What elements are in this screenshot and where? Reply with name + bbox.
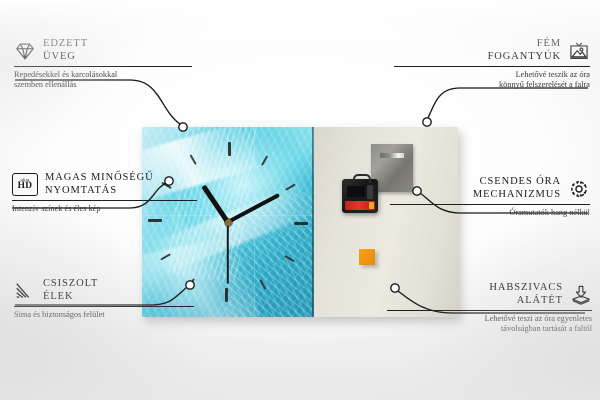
feature-title-line1: HABSZIVACS bbox=[489, 282, 563, 295]
feature-subtitle-line1: Óramutatók hang nélkül bbox=[390, 208, 590, 218]
hanger-slot bbox=[380, 153, 404, 158]
feature-subtitle-line2: könnyű felszerelését a falra bbox=[394, 80, 590, 90]
infographic-canvas: EDZETT ÜVEG Repedésekkel és karcolásokka… bbox=[0, 0, 600, 400]
feature-tempered-glass: EDZETT ÜVEG Repedésekkel és karcolásokka… bbox=[14, 38, 192, 90]
divider bbox=[394, 66, 590, 67]
feature-title-line2: FOGANTYÚK bbox=[488, 51, 561, 64]
feature-foam-pad: HABSZIVACS ALÁTÉT Lehetővé teszi az óra … bbox=[387, 282, 592, 334]
diamond-icon bbox=[14, 40, 36, 62]
clock-second-hand bbox=[227, 222, 229, 284]
feature-title-line2: ÉLEK bbox=[43, 291, 98, 304]
feature-metal-handles: FÉM FOGANTYÚK Lehetővé teszik az óra kön… bbox=[394, 38, 590, 90]
feature-title-line1: CSISZOLT bbox=[43, 278, 98, 291]
foam-pad bbox=[359, 249, 375, 265]
feature-quiet-mechanism: CSENDES ÓRA MECHANIZMUS Óramutatók hang … bbox=[390, 176, 590, 218]
mechanism-panel bbox=[347, 186, 365, 197]
glass-reflection-line bbox=[254, 127, 255, 317]
divider bbox=[14, 306, 194, 307]
feature-title-line2: ÜVEG bbox=[43, 51, 88, 64]
picture-frame-hanger-icon bbox=[568, 40, 590, 62]
feature-high-quality-print: ultra HD MAGAS MINŐSÉGŰ NYOMTATÁS Intenz… bbox=[12, 172, 197, 214]
feature-polished-edges: CSISZOLT ÉLEK Sima és biztonságos felüle… bbox=[14, 278, 194, 320]
anchor-dot-handles bbox=[423, 118, 431, 126]
aa-battery bbox=[345, 201, 375, 210]
mechanism-handle bbox=[353, 174, 371, 183]
ultra-hd-large: HD bbox=[18, 182, 33, 191]
gear-icon bbox=[568, 178, 590, 200]
clock-hour-hand bbox=[201, 184, 230, 223]
feature-subtitle-line1: Sima és biztonságos felület bbox=[14, 310, 194, 320]
feature-title-line1: EDZETT bbox=[43, 38, 88, 51]
divider bbox=[12, 200, 197, 201]
feature-title-line2: ALÁTÉT bbox=[489, 295, 563, 308]
press-pad-icon bbox=[570, 284, 592, 306]
feature-title-line2: NYOMTATÁS bbox=[45, 185, 154, 198]
feature-subtitle-line2: szemben ellenállás bbox=[14, 80, 192, 90]
feature-subtitle-line1: Lehetővé teszik az óra bbox=[394, 70, 590, 80]
feature-title-line1: FÉM bbox=[488, 38, 561, 51]
divider bbox=[390, 204, 590, 205]
mechanism-tab bbox=[367, 185, 373, 199]
feature-title-line1: CSENDES ÓRA bbox=[473, 176, 561, 189]
clock-hand-hub bbox=[225, 219, 232, 226]
divider bbox=[387, 310, 592, 311]
feature-title-line1: MAGAS MINŐSÉGŰ bbox=[45, 172, 154, 185]
feature-subtitle-line1: Lehetővé teszi az óra egyenletes bbox=[387, 314, 592, 324]
ultra-hd-icon: ultra HD bbox=[12, 173, 38, 196]
quiet-clock-mechanism bbox=[342, 179, 378, 213]
connector-handles bbox=[428, 88, 588, 118]
bevelled-edges-icon bbox=[14, 280, 36, 302]
feature-subtitle-line1: Intenzív színek és éles kép bbox=[12, 204, 197, 214]
feature-subtitle-line1: Repedésekkel és karcolásokkal bbox=[14, 70, 192, 80]
divider bbox=[14, 66, 192, 67]
feature-subtitle-line2: távolságban tartását a faltól bbox=[387, 324, 592, 334]
feature-title-line2: MECHANIZMUS bbox=[473, 189, 561, 202]
